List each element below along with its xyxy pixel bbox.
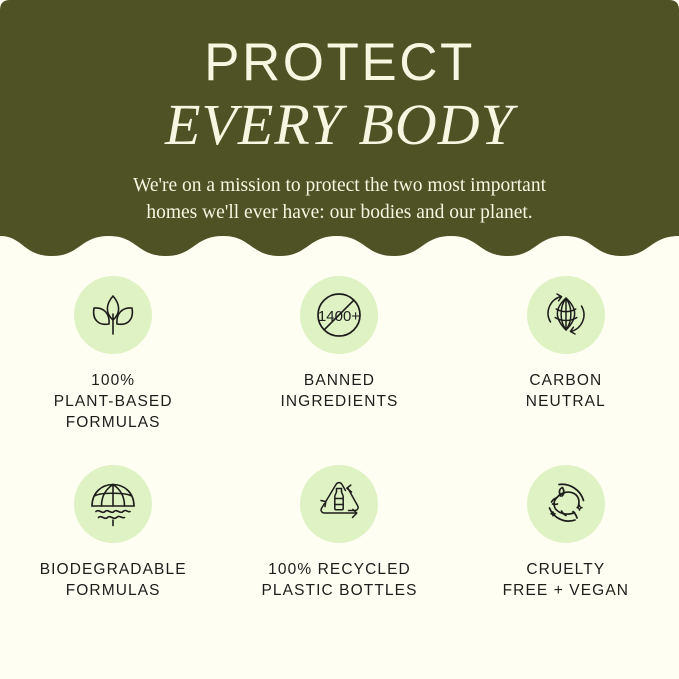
brand-values-poster: PROTECT EVERY BODY We're on a mission to… [0,0,679,679]
badge-circle-plant-based [74,276,152,354]
badge-label-banned-ingredients: BANNED INGREDIENTS [280,370,398,412]
badge-banned-ingredients: 1400+ BANNED INGREDIENTS [226,276,452,433]
badge-circle-cruelty-free [527,465,605,543]
badge-label-recycled-bottles: 100% RECYCLED PLASTIC BOTTLES [261,559,417,601]
badge-circle-banned-ingredients: 1400+ [300,276,378,354]
badge-label-cruelty-free: CRUELTY FREE + VEGAN [503,559,629,601]
badge-label-plant-based: 100% PLANT-BASED FORMULAS [54,370,173,433]
badge-label-biodegradable: BIODEGRADABLE FORMULAS [40,559,187,601]
page-title-line-1: PROTECT [0,0,679,92]
header-text-block: PROTECT EVERY BODY We're on a mission to… [0,0,679,226]
header-subtitle-line-1: We're on a mission to protect the two mo… [0,172,679,199]
badge-biodegradable: BIODEGRADABLE FORMULAS [0,465,226,601]
header-banner: PROTECT EVERY BODY We're on a mission to… [0,0,679,262]
badge-carbon-neutral: CARBON NEUTRAL [453,276,679,433]
recycled-bottle-icon [310,475,368,533]
badge-plant-based: 100% PLANT-BASED FORMULAS [0,276,226,433]
badge-cruelty-free: CRUELTY FREE + VEGAN [453,465,679,601]
badge-label-carbon-neutral: CARBON NEUTRAL [526,370,606,412]
badge-recycled-bottles: 100% RECYCLED PLASTIC BOTTLES [226,465,452,601]
brand-values-grid: 100% PLANT-BASED FORMULAS 1400+ BANNED I… [0,276,679,601]
biodegradable-globe-water-icon [85,476,141,532]
cruelty-free-rabbit-icon [537,475,595,533]
header-subtitle-line-2: homes we'll ever have: our bodies and ou… [0,199,679,226]
banned-count-text: 1400+ [318,308,360,325]
carbon-neutral-globe-icon [537,286,595,344]
header-subtitle: We're on a mission to protect the two mo… [0,156,679,226]
page-title-line-2: EVERY BODY [0,92,679,156]
banned-ingredients-icon: 1400+ [311,287,367,343]
badge-circle-recycled-bottles [300,465,378,543]
badge-circle-carbon-neutral [527,276,605,354]
badge-circle-biodegradable [74,465,152,543]
three-leaf-plant-icon [84,286,142,344]
